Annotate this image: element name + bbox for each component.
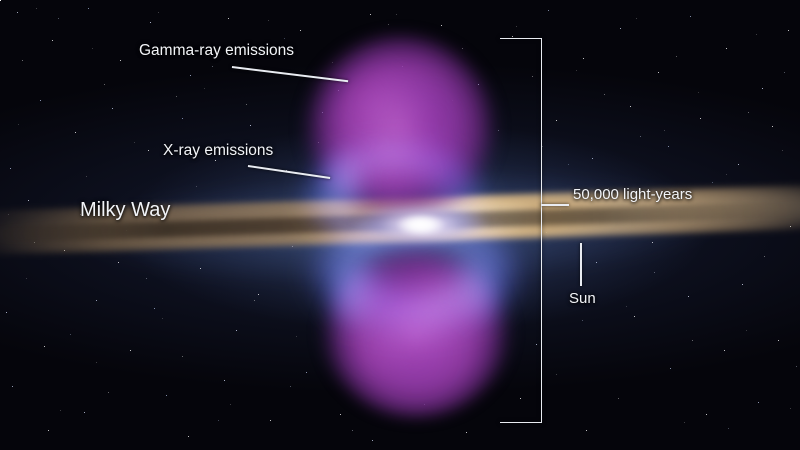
sun-leader-line [580, 243, 582, 286]
gamma-ray-label: Gamma-ray emissions [139, 42, 294, 60]
fermi-bubbles-illustration: Gamma-ray emissions X-ray emissions Milk… [0, 0, 800, 450]
milky-way-label: Milky Way [80, 199, 170, 222]
bubble-texture-bottom [330, 244, 502, 404]
galactic-core [386, 210, 456, 240]
scale-tick [541, 204, 569, 206]
star-layer-dim [0, 0, 1, 1]
scale-label: 50,000 light-years [573, 186, 692, 203]
sun-label: Sun [569, 290, 596, 307]
x-ray-label: X-ray emissions [163, 142, 273, 160]
scale-bracket [500, 38, 542, 423]
